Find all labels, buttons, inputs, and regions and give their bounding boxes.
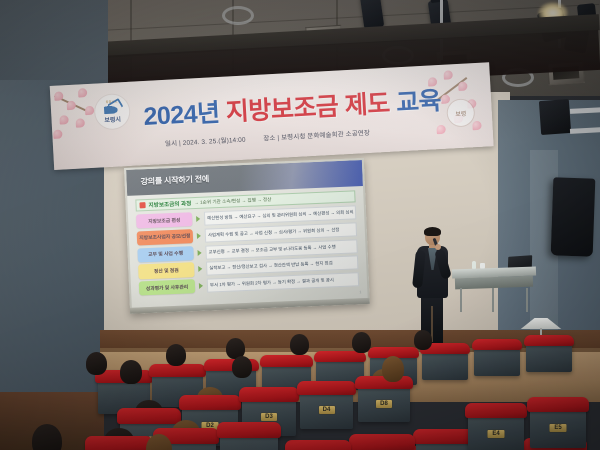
ceiling-downlight-icon <box>222 6 254 25</box>
auditorium-seat[interactable] <box>474 346 520 376</box>
audience-member <box>86 352 107 375</box>
audience-member <box>32 424 62 450</box>
banner-place-value: 보령시청 문화예술회관 소공연장 <box>281 130 370 142</box>
slide-row-list: 지방보조금 편성예산편성 방침 → 예산요구 → 심의 및 관리위원회 심의 →… <box>136 205 359 295</box>
conference-table <box>452 268 536 312</box>
slide-stage-tag: 지방보조사업자 공모/선정 <box>137 229 194 246</box>
audience-member <box>414 330 432 350</box>
slide-overview-flow: → 1순위 기관 소속/편성 → 집행 → 정산 <box>194 197 271 206</box>
presenter-hair <box>424 227 441 236</box>
bullet-icon <box>139 202 145 208</box>
slide-overview-key: 지방보조금의 과정 <box>148 199 191 209</box>
auditorium-seat[interactable] <box>352 444 412 450</box>
seat-cushion <box>179 395 241 410</box>
seat-cushion <box>297 381 355 395</box>
slide-stage-tag: 정산 및 점검 <box>138 262 195 279</box>
arrow-right-icon <box>197 249 201 255</box>
arrow-right-icon <box>196 216 200 222</box>
table-apron <box>455 276 533 290</box>
audience-member <box>166 344 186 366</box>
slide-title: 강의를 시작하기 전에 <box>140 173 209 187</box>
slide-stage-tag: 지방보조금 편성 <box>136 212 193 229</box>
presenter-hand <box>435 244 441 250</box>
slide-stage-tag: 교부 및 사업 수행 <box>137 246 194 263</box>
auditorium-seat[interactable]: E4 <box>468 412 524 450</box>
city-logo: 충청남도 보령시 <box>94 94 130 130</box>
wall-speaker-icon <box>539 99 571 135</box>
slide-content: 지방보조금의 과정 → 1순위 기관 소속/편성 → 집행 → 정산 지방보조금… <box>135 190 359 299</box>
seat-cushion <box>117 408 181 424</box>
banner-datetime-label: 일시 | <box>165 140 181 148</box>
banner-datetime-value: 2024. 3. 25.(월)14:00 <box>183 137 246 147</box>
projected-slide: 강의를 시작하기 전에 지방보조금의 과정 → 1순위 기관 소속/편성 → 집… <box>126 160 368 308</box>
seat-number-plate: E4 <box>488 430 505 438</box>
seat-cushion <box>285 440 351 450</box>
audience-member <box>290 334 309 355</box>
seat-cushion <box>349 434 415 450</box>
seat-cushion <box>260 355 314 367</box>
auditorium-seat[interactable]: E1 <box>88 446 150 450</box>
auditorium-seat[interactable]: D4 <box>300 390 353 429</box>
seat-number-plate: E5 <box>550 424 567 432</box>
auditorium-seat[interactable]: E3 <box>220 432 278 450</box>
auditorium-seat[interactable]: E5 <box>530 406 586 448</box>
wall-speaker-icon <box>551 177 596 256</box>
bird-icon <box>104 104 120 114</box>
auditorium-seat[interactable] <box>416 438 474 450</box>
seat-cushion <box>149 364 205 377</box>
auditorium-seat[interactable] <box>422 350 468 380</box>
arrow-right-icon <box>197 233 201 239</box>
auditorium-seat[interactable]: D8 <box>358 384 410 422</box>
seat-cushion <box>85 436 153 450</box>
banner-title-main: 지방보조금 제도 <box>225 90 390 127</box>
auditorium-photo: 충청남도 보령시 2024년 지방보조금 제도 교육 일시 | 2024. 3.… <box>0 0 600 450</box>
banner-title-year: 2024년 <box>143 99 221 131</box>
audience-member <box>232 356 252 378</box>
seat-cushion <box>472 339 523 350</box>
audience-member <box>382 356 404 382</box>
seat-number-plate: D4 <box>319 406 335 414</box>
banner-place-label: 장소 | <box>263 135 279 143</box>
arrow-right-icon <box>198 266 202 272</box>
slide-stage-detail: 부서 1차 평가 → 위원회 2차 평가 → 등기 확정 → 결과 공개 및 공… <box>207 272 359 292</box>
city-logo-name: 보령시 <box>104 114 121 124</box>
seat-cushion <box>524 335 575 346</box>
slide-stage-tag: 성과평가 및 사후관리 <box>139 279 196 296</box>
projection-screen: 강의를 시작하기 전에 지방보조금의 과정 → 1순위 기관 소속/편성 → 집… <box>124 158 370 314</box>
arrow-right-icon <box>199 283 203 289</box>
seat-cushion <box>217 422 281 438</box>
audience-member <box>120 360 142 384</box>
auditorium-seat[interactable] <box>526 342 572 372</box>
seat-cushion <box>527 397 589 412</box>
banner-title-suffix: 교육 <box>395 87 441 117</box>
stage-spotlight-icon <box>360 0 385 29</box>
audience-member <box>352 332 371 353</box>
slide-page-number: 1 <box>359 290 361 294</box>
seat-cushion <box>465 403 527 418</box>
audience-seating: D1D2D3D4D8E1E2E3E4E5 <box>0 326 600 450</box>
seat-cushion <box>239 387 298 401</box>
seat-number-plate: D8 <box>376 400 392 408</box>
seat-number-plate: D3 <box>261 413 277 421</box>
